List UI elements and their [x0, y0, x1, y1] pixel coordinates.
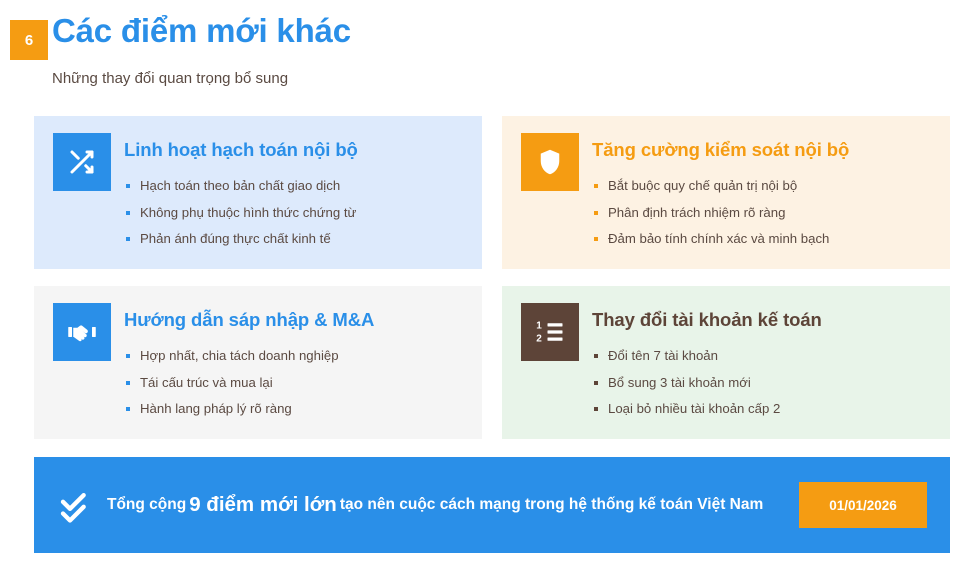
list-item: Phản ánh đúng thực chất kinh tế: [125, 226, 356, 253]
shield-icon: [521, 133, 579, 191]
bullet-icon: [126, 354, 130, 358]
list-item-label: Hành lang pháp lý rõ ràng: [140, 401, 292, 416]
list-item-label: Phân định trách nhiệm rõ ràng: [608, 205, 785, 220]
list-item-label: Tái cấu trúc và mua lại: [140, 375, 273, 390]
list-item-label: Hợp nhất, chia tách doanh nghiệp: [140, 348, 339, 363]
list-item: Tái cấu trúc và mua lại: [125, 370, 339, 397]
slide-header: 6 Các điểm mới khác Những thay đổi quan …: [0, 16, 964, 106]
banner-text-highlight: 9 điểm mới lớn: [186, 493, 340, 517]
double-check-icon: [58, 486, 98, 526]
page-subtitle: Những thay đổi quan trọng bổ sung: [52, 70, 288, 87]
card-tang-cuong-kiem-soat-noi-bo[interactable]: Tăng cường kiểm soát nội bộ Bắt buộc quy…: [502, 116, 950, 269]
card-bullet-list: Hợp nhất, chia tách doanh nghiệp Tái cấu…: [125, 343, 339, 423]
card-title: Thay đổi tài khoản kế toán: [592, 309, 822, 331]
list-item-label: Loại bỏ nhiều tài khoản cấp 2: [608, 401, 780, 416]
card-title: Linh hoạt hạch toán nội bộ: [124, 139, 358, 161]
effective-date-badge: 01/01/2026: [799, 482, 927, 528]
shuffle-icon: [53, 133, 111, 191]
card-bullet-list: Đổi tên 7 tài khoản Bổ sung 3 tài khoản …: [593, 343, 780, 423]
list-item: Loại bỏ nhiều tài khoản cấp 2: [593, 396, 780, 423]
list-item-label: Đổi tên 7 tài khoản: [608, 348, 718, 363]
bullet-icon: [594, 407, 598, 411]
card-title: Tăng cường kiểm soát nội bộ: [592, 139, 849, 161]
list-item: Hành lang pháp lý rõ ràng: [125, 396, 339, 423]
bullet-icon: [594, 381, 598, 385]
card-huong-dan-sap-nhap-ma[interactable]: Hướng dẫn sáp nhập & M&A Hợp nhất, chia …: [34, 286, 482, 439]
list-item-label: Bắt buộc quy chế quản trị nội bộ: [608, 178, 797, 193]
svg-text:2: 2: [536, 334, 542, 345]
ordered-list-icon: 1 2: [521, 303, 579, 361]
cards-grid: Linh hoạt hạch toán nội bộ Hạch toán the…: [34, 116, 950, 442]
banner-text-after: tạo nên cuộc cách mạng trong hệ thống kế…: [340, 496, 763, 514]
banner-text: Tổng cộng 9 điểm mới lớn tạo nên cuộc cá…: [107, 486, 763, 524]
card-bullet-list: Bắt buộc quy chế quản trị nội bộ Phân đị…: [593, 173, 829, 253]
list-item-label: Không phụ thuộc hình thức chứng từ: [140, 205, 356, 220]
list-item: Hợp nhất, chia tách doanh nghiệp: [125, 343, 339, 370]
bullet-icon: [594, 354, 598, 358]
card-bullet-list: Hạch toán theo bản chất giao dịch Không …: [125, 173, 356, 253]
list-item: Bắt buộc quy chế quản trị nội bộ: [593, 173, 829, 200]
list-item-label: Bổ sung 3 tài khoản mới: [608, 375, 751, 390]
page-title: Các điểm mới khác: [52, 12, 351, 50]
list-item-label: Đảm bảo tính chính xác và minh bạch: [608, 231, 829, 246]
bullet-icon: [594, 184, 598, 188]
list-item: Đảm bảo tính chính xác và minh bạch: [593, 226, 829, 253]
list-item: Đổi tên 7 tài khoản: [593, 343, 780, 370]
list-item: Không phụ thuộc hình thức chứng từ: [125, 200, 356, 227]
bullet-icon: [126, 184, 130, 188]
card-linh-hoat-hach-toan-noi-bo[interactable]: Linh hoạt hạch toán nội bộ Hạch toán the…: [34, 116, 482, 269]
handshake-icon: [53, 303, 111, 361]
svg-text:1: 1: [536, 321, 542, 332]
bullet-icon: [126, 407, 130, 411]
list-item-label: Phản ánh đúng thực chất kinh tế: [140, 231, 331, 246]
list-item: Phân định trách nhiệm rõ ràng: [593, 200, 829, 227]
section-number-badge: 6: [10, 20, 48, 60]
banner-text-before: Tổng cộng: [107, 496, 186, 514]
summary-banner: Tổng cộng 9 điểm mới lớn tạo nên cuộc cá…: [34, 457, 950, 553]
bullet-icon: [594, 237, 598, 241]
bullet-icon: [126, 381, 130, 385]
card-title: Hướng dẫn sáp nhập & M&A: [124, 309, 374, 331]
card-thay-doi-tai-khoan-ke-toan[interactable]: 1 2 Thay đổi tài khoản kế toán Đổi tên 7…: [502, 286, 950, 439]
bullet-icon: [126, 211, 130, 215]
list-item: Bổ sung 3 tài khoản mới: [593, 370, 780, 397]
slide: 6 Các điểm mới khác Những thay đổi quan …: [0, 0, 964, 575]
list-item-label: Hạch toán theo bản chất giao dịch: [140, 178, 340, 193]
list-item: Hạch toán theo bản chất giao dịch: [125, 173, 356, 200]
bullet-icon: [126, 237, 130, 241]
bullet-icon: [594, 211, 598, 215]
